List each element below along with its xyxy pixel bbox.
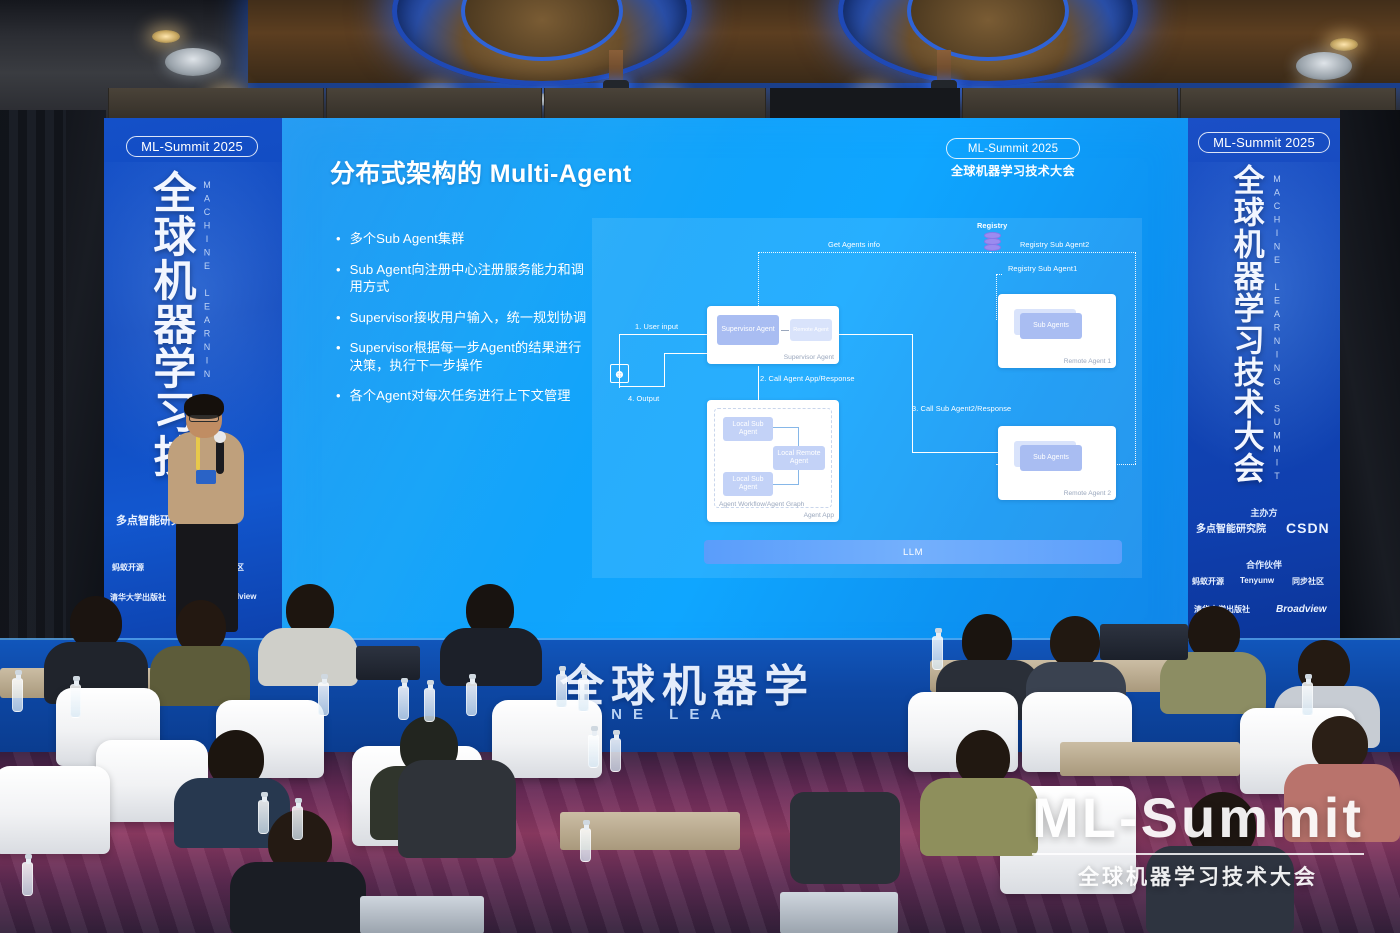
chip-supervisor-agent: Supervisor Agent — [717, 315, 779, 345]
edge-label-call-agent-app: 2. Call Agent App/Response — [760, 374, 855, 383]
water-bottle — [22, 862, 33, 896]
banner-pill-left: ML-Summit 2025 — [126, 136, 258, 157]
edge — [619, 334, 707, 335]
wall-panel — [326, 88, 542, 122]
microphone — [216, 440, 224, 474]
water-bottle — [424, 688, 435, 722]
edge-label-output: 4. Output — [628, 394, 659, 403]
edge — [664, 353, 665, 387]
projector-rig — [937, 50, 951, 84]
slide-title: 分布式架构的 Multi-Agent — [330, 154, 632, 190]
slide-bullet-list: • 多个Sub Agent集群 • Sub Agent向注册中心注册服务能力和调… — [336, 230, 588, 418]
bullet-text: 各个Agent对每次任务进行上下文管理 — [350, 387, 571, 405]
banner-pill-right: ML-Summit 2025 — [1198, 132, 1330, 153]
agent-app-card: Local Sub Agent Local Remote Agent Local… — [707, 400, 839, 522]
watermark-divider — [1032, 853, 1364, 855]
partner-logo-5: Broadview — [1276, 604, 1327, 615]
partner-logo-3: 同步社区 — [1292, 576, 1324, 587]
water-bottle — [318, 682, 329, 716]
supervisor-agent-caption: Supervisor Agent — [784, 354, 834, 361]
water-bottle — [466, 682, 477, 716]
stage-front-subtitle: INE LEA — [596, 706, 732, 723]
jacket — [398, 760, 516, 858]
remote-agent-1-card: Sub Agents Remote Agent 1 — [998, 294, 1116, 368]
organizer-logo-1: 多点智能研究院 — [1196, 520, 1266, 535]
water-bottle — [932, 636, 943, 670]
downlight — [1330, 38, 1358, 51]
chair — [0, 766, 110, 854]
projector-rig — [609, 50, 623, 84]
banner-vertical-sub-left: MACHINE LEARNIN — [202, 180, 212, 383]
audience-torso — [230, 862, 366, 933]
chip-local-remote-agent: Local Remote Agent — [773, 446, 825, 470]
bullet-marker-icon: • — [336, 261, 341, 296]
audience-torso — [1160, 652, 1266, 714]
bullet-marker-icon: • — [336, 339, 341, 374]
list-item: • Supervisor根据每一步Agent的结果进行决策，执行下一步操作 — [336, 339, 588, 374]
chip-sub-agents-1: Sub Agents — [1020, 313, 1082, 339]
dashed-edge — [996, 274, 1002, 275]
user-icon: ☻ — [610, 364, 629, 383]
edge — [619, 386, 665, 387]
bullet-text: Supervisor接收用户输入，统一规划协调 — [350, 309, 587, 327]
edge-label-user-input: 1. User input — [635, 322, 678, 331]
registry-label: Registry — [977, 221, 1007, 230]
list-item: • 各个Agent对每次任务进行上下文管理 — [336, 387, 588, 405]
edge-label-call-sub-agent2: 3. Call Sub Agent2/Response — [912, 404, 1011, 413]
conference-photo: ML-Summit 2025 全球机器学习技 MACHINE LEARNIN 多… — [0, 0, 1400, 933]
audience-torso — [258, 628, 358, 686]
list-item: • 多个Sub Agent集群 — [336, 230, 588, 248]
right-banner: ML-Summit 2025 全球机器学习技术大会 MACHINE LEARNI… — [1188, 118, 1340, 662]
partner-logo-1: 蚂蚁开源 — [1192, 576, 1224, 587]
dashed-edge — [1135, 252, 1136, 464]
water-bottle — [258, 800, 269, 834]
water-bottle — [292, 806, 303, 840]
laptop — [780, 892, 898, 933]
bullet-text: Supervisor根据每一步Agent的结果进行决策，执行下一步操作 — [350, 339, 588, 374]
list-item: • Sub Agent向注册中心注册服务能力和调用方式 — [336, 261, 588, 296]
water-bottle — [578, 678, 589, 712]
wall-panel — [108, 88, 324, 122]
bullet-text: 多个Sub Agent集群 — [350, 230, 465, 248]
speaker-lanyard — [196, 436, 200, 470]
water-bottle — [398, 686, 409, 720]
slide-sponsor-1: 蚂蚁开源 — [112, 562, 144, 573]
supervisor-agent-card: Supervisor Agent Remote Agent Supervisor… — [707, 306, 839, 364]
laptop — [1100, 624, 1188, 660]
agent-workflow-caption: Agent Workflow/Agent Graph — [719, 501, 804, 508]
slide-header-sub: 全球机器学习技术大会 — [938, 162, 1088, 179]
edge — [912, 334, 913, 452]
remote-agent-2-card: Sub Agents Remote Agent 2 — [998, 426, 1116, 500]
water-bottle — [588, 734, 599, 768]
chip-sub-agents-2: Sub Agents — [1020, 445, 1082, 471]
speaker-glasses — [189, 415, 219, 422]
audience-torso — [920, 778, 1038, 856]
bullet-text: Sub Agent向注册中心注册服务能力和调用方式 — [350, 261, 588, 296]
watermark: ML-Summit 全球机器学习技术大会 — [1032, 790, 1364, 891]
dashed-edge — [996, 274, 997, 320]
stage-front-title: 全球机器学 — [560, 650, 815, 714]
list-item: • Supervisor接收用户输入，统一规划协调 — [336, 309, 588, 327]
organizer-logo-2: CSDN — [1286, 520, 1330, 536]
registry-database-icon — [984, 232, 1001, 254]
banner-vertical-sub-right: MACHINE LEARNING SUMMIT — [1272, 174, 1282, 485]
edge — [912, 452, 998, 453]
agent-app-caption: Agent App — [804, 512, 834, 519]
edge — [839, 334, 913, 335]
edge — [664, 353, 708, 354]
watermark-subtitle: 全球机器学习技术大会 — [1032, 861, 1364, 891]
edge-label-get-agents-info: Get Agents info — [828, 240, 880, 249]
speaker-badge — [196, 470, 216, 484]
stage-curtain — [0, 110, 66, 670]
banner-vertical-title-right: 全球机器学习技术大会 — [1230, 164, 1262, 484]
audience-table — [1060, 742, 1240, 776]
bullet-marker-icon: • — [336, 309, 341, 327]
slide-header-pill: ML-Summit 2025 — [946, 138, 1080, 159]
audience-head — [1050, 616, 1100, 668]
remote-agent-2-caption: Remote Agent 2 — [1064, 490, 1111, 497]
chip-remote-agent: Remote Agent — [790, 319, 832, 341]
downlight — [152, 30, 180, 43]
dashed-edge — [990, 252, 1136, 253]
water-bottle — [70, 684, 81, 718]
ceiling-lamp — [1296, 52, 1352, 80]
watermark-title: ML-Summit — [1032, 790, 1364, 846]
right-wall — [1340, 110, 1400, 670]
laptop — [360, 896, 484, 933]
bullet-marker-icon: • — [336, 230, 341, 248]
ceiling — [0, 0, 1400, 118]
water-bottle — [580, 828, 591, 862]
dashed-edge — [758, 252, 990, 253]
wall-panel — [962, 88, 1178, 122]
edge-label-registry-sub-agent2: Registry Sub Agent2 — [1020, 240, 1089, 249]
water-bottle — [610, 738, 621, 772]
edge-label-registry-sub-agent1: Registry Sub Agent1 — [1008, 264, 1077, 273]
audience-torso — [150, 646, 250, 706]
partner-label: 合作伙伴 — [1188, 558, 1340, 571]
presentation-screen: 分布式架构的 Multi-Agent ML-Summit 2025 全球机器学习… — [282, 118, 1188, 662]
audience-torso — [440, 628, 542, 686]
backpack — [790, 792, 900, 884]
water-bottle — [556, 674, 567, 708]
water-bottle — [12, 678, 23, 712]
laptop — [356, 646, 420, 680]
architecture-diagram: Registry Get Agents info Registry Sub Ag… — [592, 218, 1142, 578]
llm-bar: LLM — [704, 540, 1122, 564]
wall-panel — [544, 88, 766, 122]
slide-sponsor-3: 清华大学出版社 — [110, 592, 166, 603]
chip-local-sub-agent-2: Local Sub Agent — [723, 472, 773, 496]
water-bottle — [1302, 682, 1313, 716]
bullet-marker-icon: • — [336, 387, 341, 405]
ceiling-lamp — [165, 48, 221, 76]
remote-agent-1-caption: Remote Agent 1 — [1064, 358, 1111, 365]
organizer-label: 主办方 — [1188, 506, 1340, 519]
chip-local-sub-agent-1: Local Sub Agent — [723, 417, 773, 441]
partner-logo-2: Tenyunw — [1240, 576, 1274, 585]
